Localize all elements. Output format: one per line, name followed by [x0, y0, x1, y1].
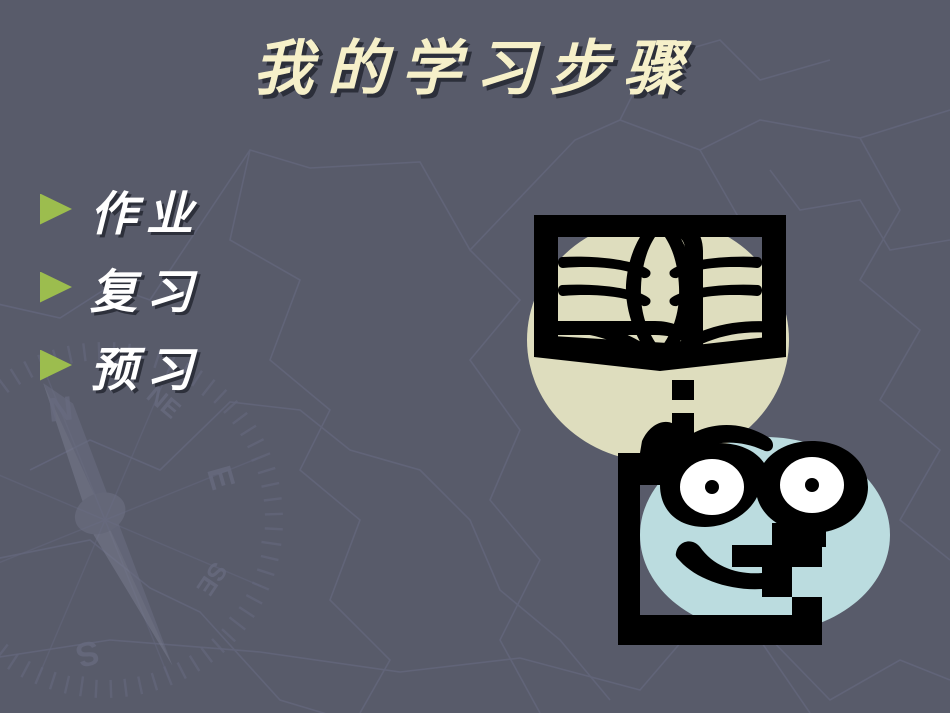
presentation-slide: N NW NE E SE S 我的学习步骤 作业 复习 预习	[0, 0, 950, 713]
list-item[interactable]: 复习	[40, 248, 460, 326]
list-item[interactable]: 预习	[40, 326, 460, 404]
compass-label-e: E	[199, 462, 242, 494]
list-item-label: 作业	[90, 175, 202, 244]
list-item[interactable]: 作业	[40, 170, 460, 248]
triangle-bullet-icon	[40, 272, 72, 303]
compass-label-s: S	[72, 632, 103, 674]
triangle-bullet-icon	[40, 350, 72, 381]
list-item-label: 预习	[90, 331, 202, 400]
compass-needle	[23, 372, 187, 679]
pupil-right	[805, 478, 819, 492]
list-item-label: 复习	[90, 253, 202, 322]
triangle-bullet-icon	[40, 194, 72, 225]
compass-label-se: SE	[191, 557, 233, 600]
pupil-left	[705, 480, 719, 494]
slide-title: 我的学习步骤	[0, 38, 950, 101]
book-to-head-learning-graphic	[500, 185, 950, 665]
bullet-list: 作业 复习 预习	[40, 170, 460, 404]
